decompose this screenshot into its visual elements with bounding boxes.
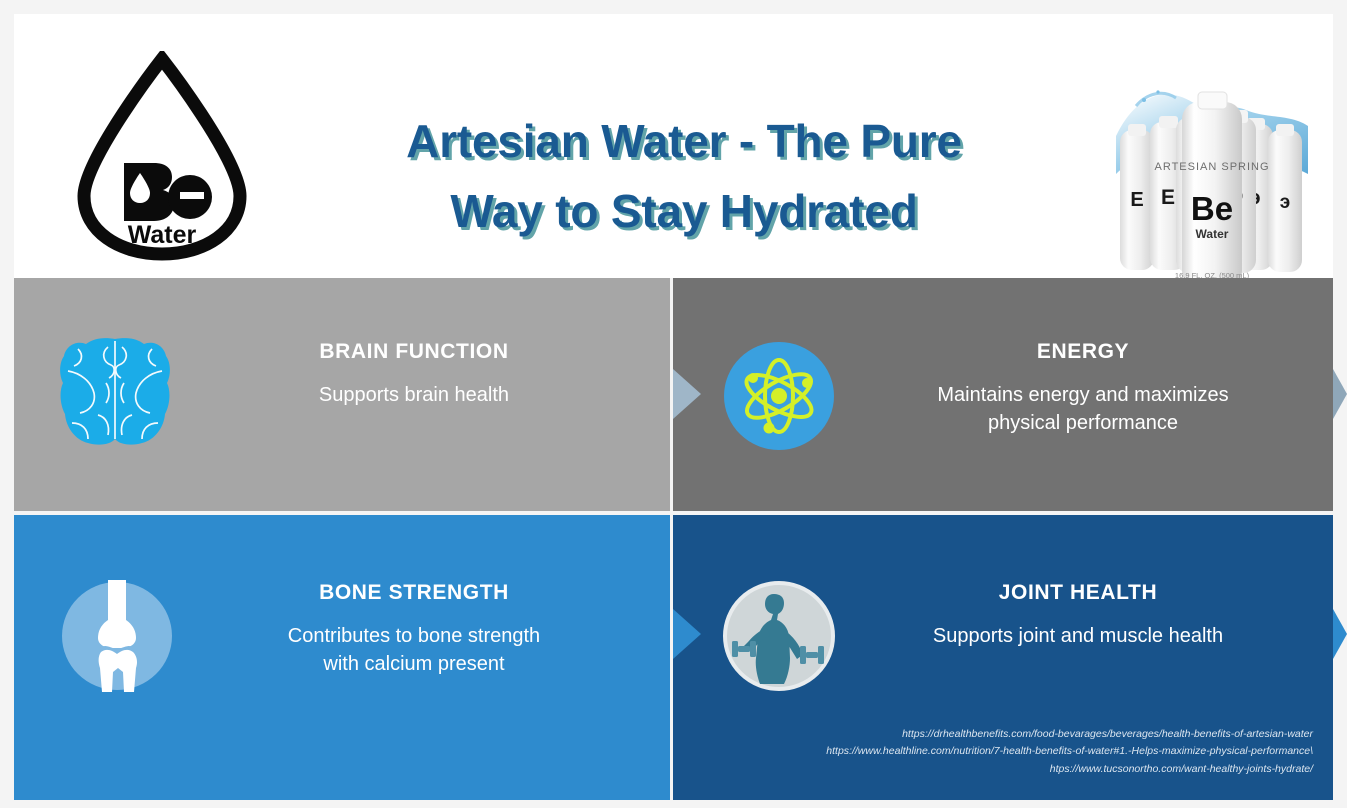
brain-icon [58,335,172,447]
panel-bone-description-line-2: with calcium present [184,650,644,678]
panel-energy-description-line-1: Maintains energy and maximizes [848,381,1318,409]
svg-text:э: э [1280,192,1291,213]
chevron-right-icon-bottom-row [673,609,701,659]
panel-brain-function[interactable]: BRAIN FUNCTION Supports brain health [14,278,670,511]
chevron-right-icon-top-row [673,369,701,419]
weightlifter-icon [722,580,836,692]
citation-line-1: https://drhealthbenefits.com/food-bevara… [753,726,1313,743]
citation-line-2: https://www.healthline.com/nutrition/7-h… [753,743,1313,760]
header-banner: Water Artesian Water - The Pure Way to S… [14,14,1333,278]
panel-energy-description-line-2: physical performance [848,409,1318,437]
svg-text:E: E [1130,189,1143,211]
page-title-line-2: Way to Stay Hydrated [269,176,1099,246]
infographic-canvas: Water Artesian Water - The Pure Way to S… [0,0,1347,808]
panel-bone-strength[interactable]: BONE STRENGTH Contributes to bone streng… [14,515,670,800]
panel-energy[interactable]: ENERGY Maintains energy and maximizes ph… [673,278,1333,511]
chevron-right-icon-top-edge [1333,369,1347,419]
water-drop-logo-icon: Water [62,51,262,261]
panel-energy-heading: ENERGY [848,340,1318,364]
panel-joint-heading: JOINT HEALTH [843,581,1313,605]
knee-joint-bone-icon [60,580,174,692]
panel-brain-description: Supports brain health [184,381,644,409]
panel-bone-description-line-1: Contributes to bone strength [184,622,644,650]
page-title-line-1: Artesian Water - The Pure [269,106,1099,176]
panel-joint-description: Supports joint and muscle health [843,622,1313,650]
citation-line-3: htps://www.tucsonortho.com/want-healthy-… [753,761,1313,778]
panel-brain-heading: BRAIN FUNCTION [184,340,644,364]
bottles-image: E E э э [1114,66,1310,286]
be-water-logo: Water [62,51,262,261]
panel-joint-text: JOINT HEALTH Supports joint and muscle h… [843,581,1313,650]
atom-icon [722,340,836,452]
chevron-right-icon-bottom-edge [1333,609,1347,659]
svg-text:E: E [1161,186,1175,209]
svg-text:Be: Be [1191,190,1233,227]
svg-text:ARTESIAN SPRING: ARTESIAN SPRING [1154,161,1269,173]
logo-water-text: Water [128,221,197,249]
panel-brain-text: BRAIN FUNCTION Supports brain health [184,340,644,409]
svg-text:Water: Water [1196,227,1229,241]
panel-bone-text: BONE STRENGTH Contributes to bone streng… [184,581,644,679]
citations-list: https://drhealthbenefits.com/food-bevara… [753,726,1313,778]
be-water-bottles-photo: E E э э [1114,66,1310,286]
panel-bone-heading: BONE STRENGTH [184,581,644,605]
page-title: Artesian Water - The Pure Way to Stay Hy… [269,106,1099,247]
panel-joint-health[interactable]: JOINT HEALTH Supports joint and muscle h… [673,515,1333,800]
panel-energy-text: ENERGY Maintains energy and maximizes ph… [848,340,1318,438]
